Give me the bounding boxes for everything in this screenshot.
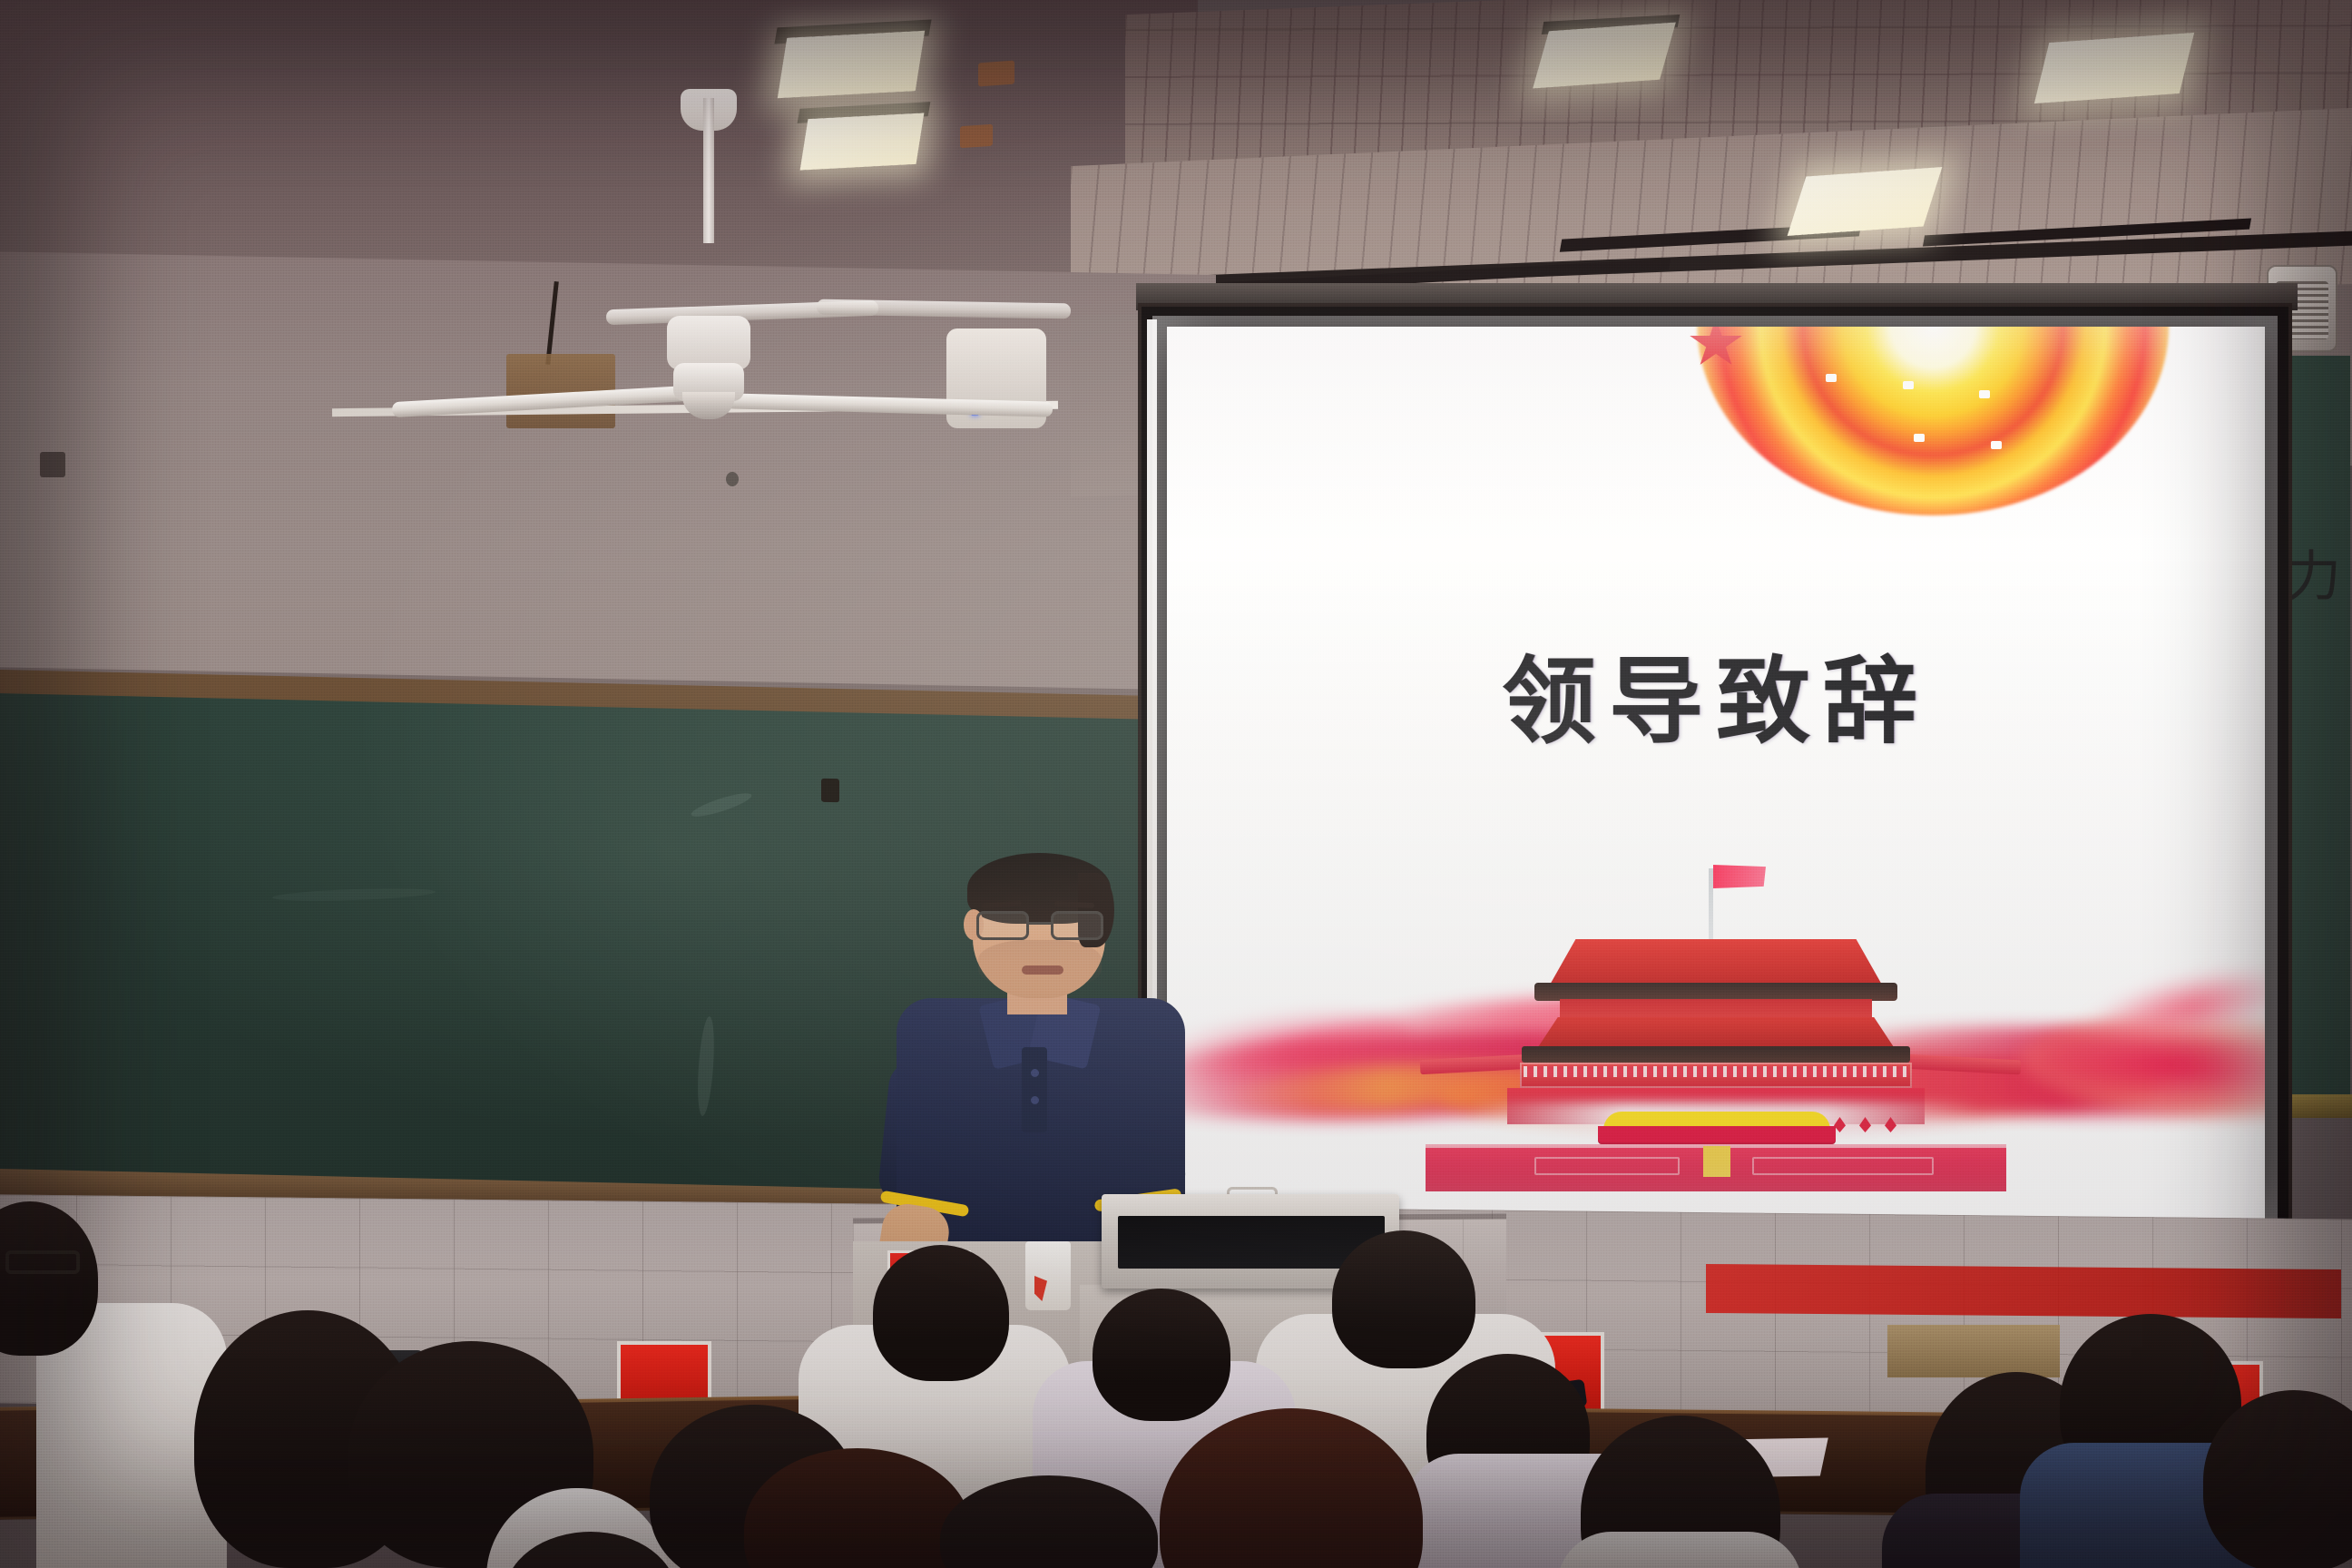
gate-balustrade: [1524, 1066, 1908, 1077]
eyeglasses-icon: [975, 911, 1107, 942]
projected-slide[interactable]: 领导致辞: [1167, 327, 2265, 1220]
emblem-dot: [1419, 443, 1430, 451]
emblem-dot: [1496, 436, 1507, 444]
gate-lower-eave: [1522, 1046, 1910, 1063]
ceiling-fan-downrod: [703, 98, 714, 243]
shirt-button: [1031, 1069, 1039, 1077]
ceiling-light-icon: [2034, 33, 2194, 103]
emblem-dot: [1979, 390, 1990, 398]
classroom-photo-scene: 力 领导致辞: [0, 0, 2352, 1568]
ceiling-light-icon: [1533, 22, 1676, 88]
national-flag-icon: [1713, 865, 1766, 888]
emblem-dot: [1991, 441, 2002, 449]
gate-base-panel: [1534, 1157, 1680, 1175]
emblem-dot: [1584, 381, 1595, 389]
tiananmen-gate-illustration: [1507, 888, 1925, 1188]
wall-mark: [726, 472, 739, 486]
ceiling-light-icon: [1788, 167, 1943, 236]
ceiling-dark-zone: [0, 0, 1198, 281]
gate-upper-roof: [1549, 939, 1883, 986]
blackboard-right: [2279, 356, 2350, 1118]
emblem-dot: [1430, 399, 1441, 407]
water-cup: [1025, 1241, 1071, 1310]
eyeglass-lens: [976, 911, 1029, 940]
ceiling-light-icon: [800, 113, 925, 170]
presenter-placket: [1022, 1047, 1047, 1132]
emblem-dot: [1826, 374, 1837, 382]
blackboard-right-chalk-text: 力: [2287, 544, 2341, 610]
face-shading: [978, 940, 1102, 989]
ceiling-fan-icon: [667, 316, 750, 370]
eyeglass-lens: [1051, 911, 1103, 940]
emblem-dot: [1914, 434, 1925, 442]
emblem-dot: [1903, 381, 1914, 389]
red-star-radial-emblem: [1697, 327, 2169, 515]
ceiling-light-icon: [778, 31, 925, 99]
gate-lower-roof: [1536, 1017, 1896, 1050]
gate-base-panel: [1752, 1157, 1934, 1175]
attendee-shoulders: [1557, 1532, 1802, 1568]
gate-upper-eave: [1534, 983, 1897, 1001]
wall-mark: [40, 452, 65, 477]
eyeglasses-icon: [5, 1250, 80, 1274]
gate-archway: [1703, 1146, 1730, 1177]
presenter-mouth: [1022, 965, 1063, 975]
ceiling-hook: [960, 124, 993, 149]
blackboard-hook: [821, 779, 839, 802]
shirt-button: [1031, 1096, 1039, 1104]
emblem-dot: [1507, 388, 1518, 397]
emblem-dot: [1672, 374, 1683, 382]
attendee-head: [1332, 1230, 1475, 1368]
ceiling-hook: [978, 61, 1014, 87]
slide-title: 领导致辞: [1167, 624, 2265, 761]
attendee-head: [873, 1245, 1009, 1381]
red-banner-strip: [1706, 1264, 2341, 1318]
watercolor-illustration: [1167, 839, 2265, 1220]
attendee-head: [1093, 1289, 1230, 1421]
eyeglass-bridge: [1029, 922, 1053, 925]
gate-red-trim: [1598, 1126, 1836, 1144]
cardboard-box: [1887, 1325, 2060, 1377]
